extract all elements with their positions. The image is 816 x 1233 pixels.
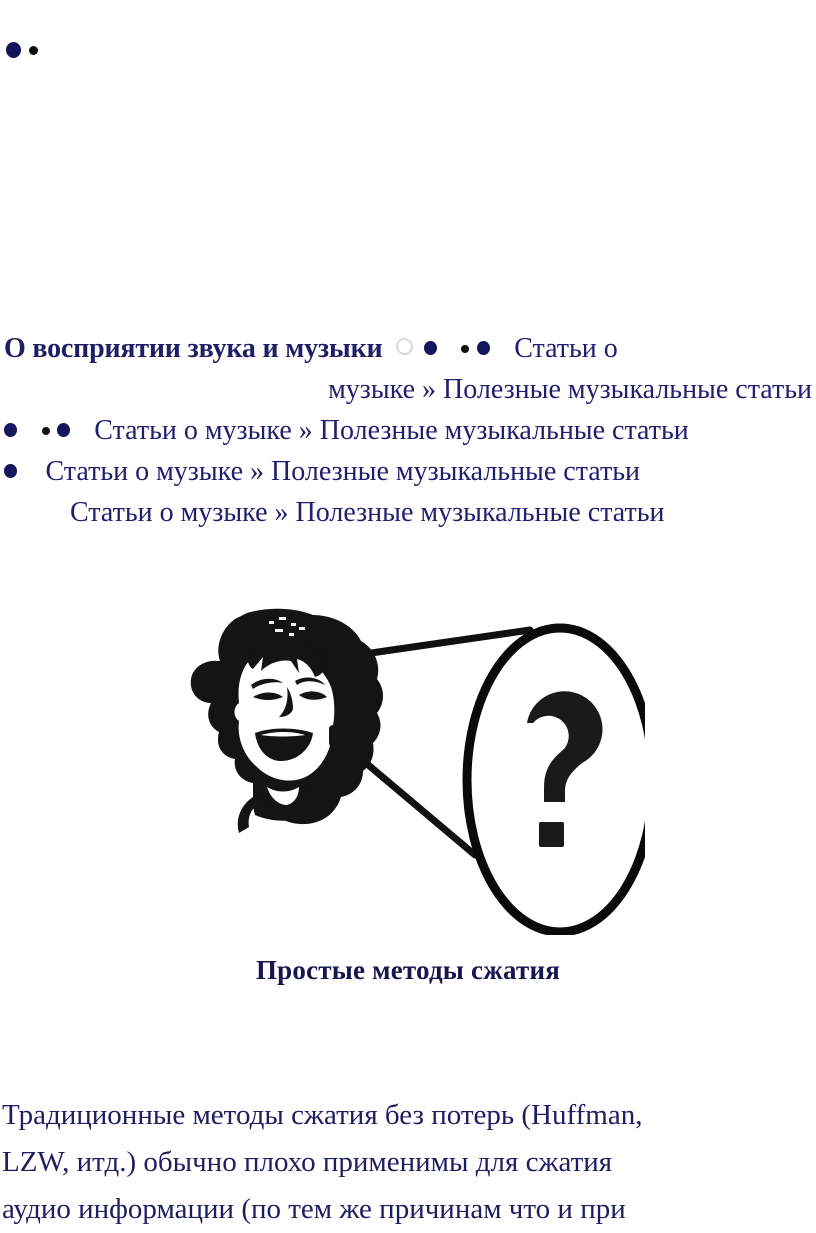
bullet-navy-icon bbox=[4, 464, 17, 478]
bullet-black-icon bbox=[29, 46, 38, 55]
breadcrumb-link-2[interactable]: Статьи о музыке » Полезные музыкальные с… bbox=[94, 415, 689, 446]
bullet-navy-icon bbox=[57, 423, 70, 437]
breadcrumb-line-2: Статьи о музыке » Полезные музыкальные с… bbox=[0, 410, 816, 451]
body-paragraph: Традиционные методы сжатия без потерь (H… bbox=[2, 1092, 802, 1233]
bullet-black-icon bbox=[461, 345, 469, 353]
paragraph-line: Традиционные методы сжатия без потерь (H… bbox=[2, 1092, 802, 1139]
paragraph-line: аудио информации (по тем же причинам что… bbox=[2, 1186, 802, 1233]
breadcrumb-line-1: О восприятии звука и музыки Статьи о bbox=[0, 328, 816, 369]
breadcrumb-line-4: Статьи о музыке » Полезные музыкальные с… bbox=[0, 492, 816, 533]
bullet-navy-icon bbox=[477, 341, 490, 355]
faint-ring-icon bbox=[396, 338, 413, 355]
woman-and-question-mark-graphic bbox=[175, 575, 645, 935]
breadcrumb-link-useful-articles[interactable]: музыке » Полезные музыкальные статьи bbox=[328, 374, 812, 405]
bullet-black-icon bbox=[42, 427, 50, 435]
woman-head-icon bbox=[191, 609, 383, 833]
top-bullet-group bbox=[6, 42, 38, 58]
breadcrumb-link-articles[interactable]: Статьи о bbox=[514, 333, 618, 364]
paragraph-line: LZW, итд.) обычно плохо применимы для сж… bbox=[2, 1139, 802, 1186]
bullet-navy-icon bbox=[4, 423, 17, 437]
breadcrumb-line-1-continuation: музыке » Полезные музыкальные статьи bbox=[0, 369, 816, 410]
page-title: О восприятии звука и музыки bbox=[4, 333, 382, 364]
bullet-navy-icon bbox=[424, 341, 437, 355]
breadcrumb-link-4[interactable]: Статьи о музыке » Полезные музыкальные с… bbox=[70, 497, 665, 528]
bullet-navy-icon bbox=[6, 42, 21, 58]
breadcrumb-link-3[interactable]: Статьи о музыке » Полезные музыкальные с… bbox=[46, 456, 641, 487]
breadcrumb: О восприятии звука и музыки Статьи о муз… bbox=[0, 328, 816, 533]
figure-caption: Простые методы сжатия bbox=[0, 955, 816, 986]
breadcrumb-line-3: Статьи о музыке » Полезные музыкальные с… bbox=[0, 451, 816, 492]
thought-bubble-illustration bbox=[175, 575, 645, 935]
